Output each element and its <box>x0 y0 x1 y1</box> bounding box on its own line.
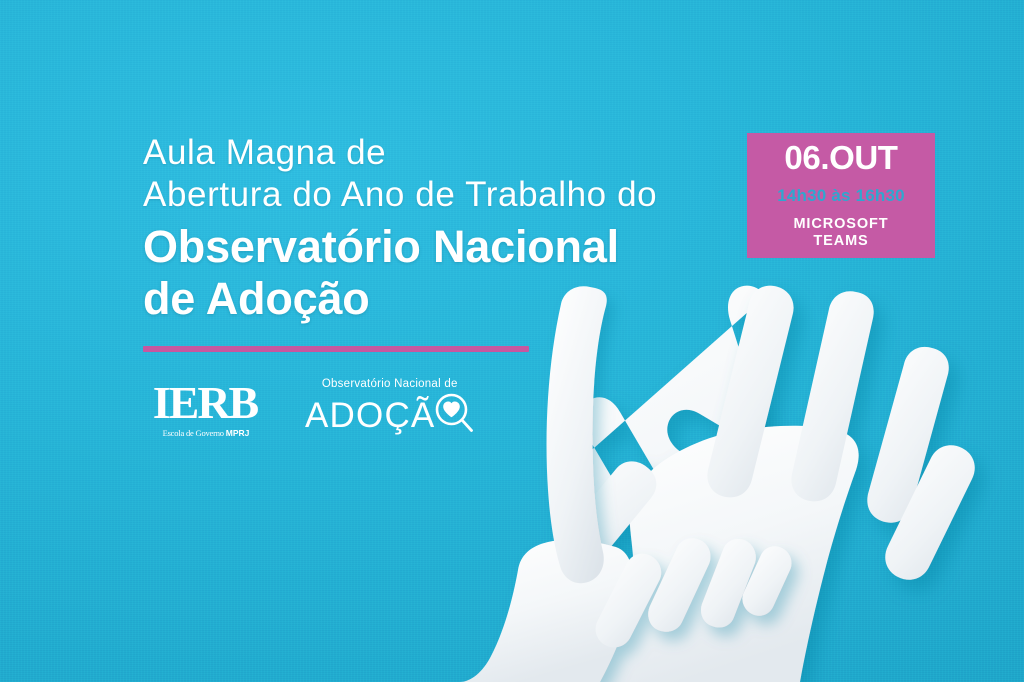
pink-divider-rule <box>143 346 529 352</box>
ierb-logo: IERB Escola de Governo MPRJ <box>143 378 269 438</box>
event-poster: Aula Magna de Abertura do Ano de Trabalh… <box>0 0 1024 682</box>
observatorio-subtitle: Observatório Nacional de <box>305 378 474 391</box>
observatorio-wordmark-letters: ADOÇÃ <box>305 397 435 435</box>
adult-hand-detail <box>551 286 975 682</box>
logo-row: IERB Escola de Governo MPRJ Observatório… <box>143 378 474 439</box>
ierb-tagline-bold: MPRJ <box>226 428 250 438</box>
badge-time-text: 14h30 às 16h30 <box>765 186 917 205</box>
event-date-badge: 06.OUT 14h30 às 16h30 MICROSOFT TEAMS <box>747 133 935 258</box>
observatorio-wordmark: ADOÇÃ <box>305 392 474 439</box>
headline-line-1: Aula Magna de <box>143 132 743 174</box>
ierb-wordmark: IERB <box>141 380 269 426</box>
badge-platform-text: MICROSOFT TEAMS <box>765 216 917 250</box>
observatorio-logo: Observatório Nacional de ADOÇÃ <box>305 378 474 439</box>
headline-line-3: Observatório Nacional <box>143 220 743 274</box>
magnifier-heart-icon <box>434 392 474 439</box>
headline-block: Aula Magna de Abertura do Ano de Trabalh… <box>143 132 743 326</box>
adult-hand-cutout <box>560 286 800 682</box>
headline-line-2: Abertura do Ano de Trabalho do <box>143 174 743 216</box>
ierb-tagline-prefix: Escola de Governo <box>163 428 226 438</box>
hands-artwork <box>0 0 1024 682</box>
headline-line-4: de Adoção <box>143 272 743 326</box>
badge-date-text: 06.OUT <box>765 141 917 175</box>
ierb-tagline: Escola de Governo MPRJ <box>143 428 269 438</box>
